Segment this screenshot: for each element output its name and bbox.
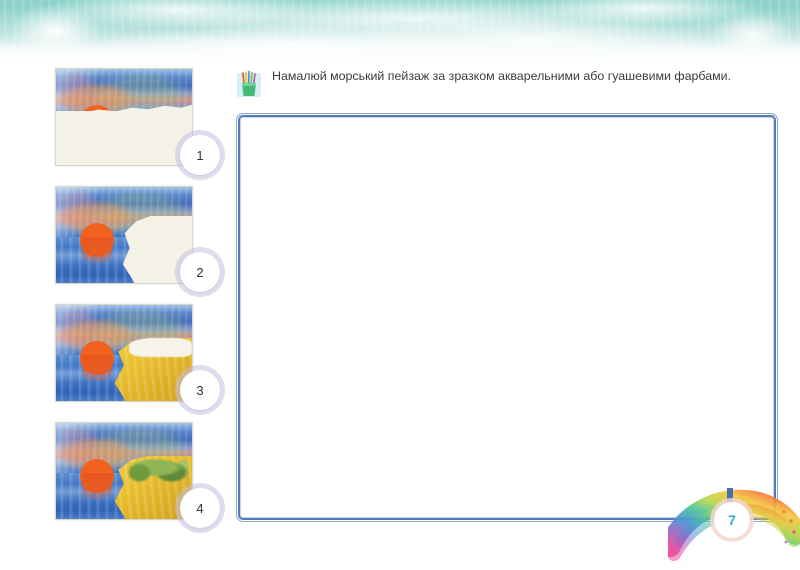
drawing-canvas[interactable] [236,113,778,522]
step-thumbnail-3[interactable] [55,304,193,402]
task-text: Намалюй морський пейзаж за зразком аквар… [272,68,731,99]
step-thumbnail-2[interactable] [55,186,193,284]
step-badge-label: 2 [196,265,203,280]
step-badge-4: 4 [180,488,220,528]
step-thumbnail-column: 1 2 3 [0,0,235,565]
step-item-1[interactable]: 1 [55,68,191,166]
step-item-4[interactable]: 4 [55,422,191,520]
step-badge-1: 1 [180,135,220,175]
task-instruction: Намалюй морський пейзаж за зразком аквар… [236,68,781,99]
step-badge-3: 3 [180,370,220,410]
step-badge-2: 2 [180,252,220,292]
painting-blank-lower-area [56,111,192,165]
step-badge-label: 1 [196,148,203,163]
painting-sun-reflection [82,237,112,263]
page-number-decoration: 7 [668,488,800,565]
step-badge-label: 3 [196,383,203,398]
paint-brushes-cup-icon [236,69,262,99]
step-thumbnail-1[interactable] [55,68,193,166]
painting-white-clouds [129,338,192,357]
step-item-3[interactable]: 3 [55,304,191,402]
page-number-label: 7 [728,512,736,528]
page-number-badge: 7 [714,502,750,538]
painting-sun-reflection [82,473,112,499]
step-badge-label: 4 [196,501,203,516]
painting-sun-reflection [82,355,112,381]
step-thumbnail-4[interactable] [55,422,193,520]
step-item-2[interactable]: 2 [55,186,191,284]
painting-green-vegetation [127,458,190,483]
